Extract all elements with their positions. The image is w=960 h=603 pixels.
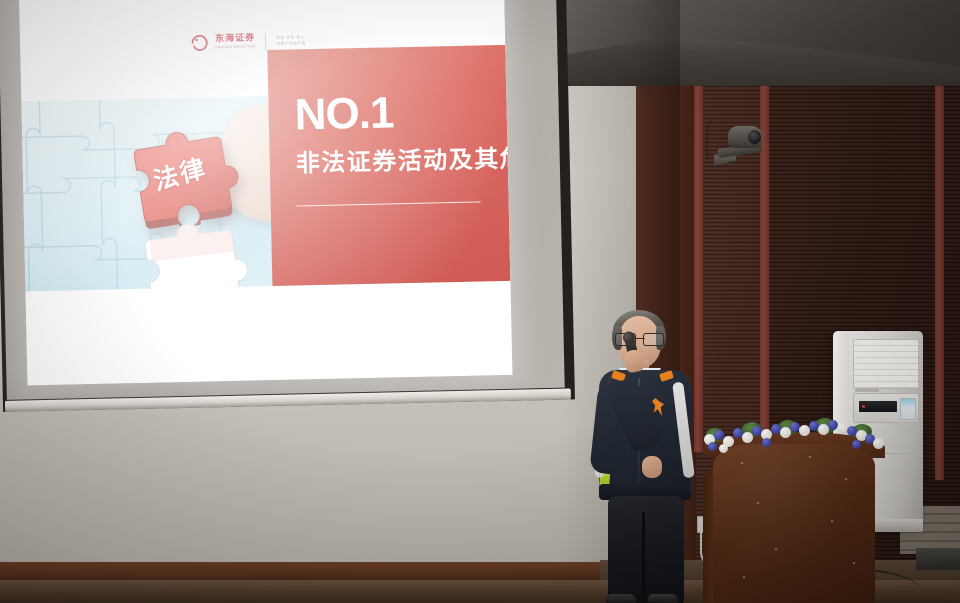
slide-number: NO.1 [294,91,394,137]
lectern-front-panel [713,444,875,603]
projected-image: 东海证券 DONGHAI SECURITIES 专业 专注 专心 为客户创造价值 [19,0,512,385]
shoe [606,594,636,603]
puzzle-slot [137,209,265,292]
wall-trim-strip [935,40,944,480]
flower-arrangement [702,416,886,452]
slide-title-panel: NO.1 非法证券活动及其危害 [267,45,510,286]
bird-logo-icon [190,33,209,52]
photo-scene: 东海证券 DONGHAI SECURITIES 专业 专注 专心 为客户创造价值 [0,0,960,603]
ac-energy-label [900,398,916,420]
ac-air-grille [853,339,919,389]
ac-brand-label [855,389,879,392]
presenter [586,306,704,603]
camera-body [728,126,762,148]
logo-tagline-line2: 为客户创造价值 [276,40,305,47]
shoe [648,594,678,603]
lectern [703,418,885,603]
trouser-seam [642,512,645,602]
logo-divider [265,33,266,50]
camera-lens-icon [748,130,761,144]
title-underline [297,201,481,206]
security-camera-icon [714,126,770,170]
trousers [608,496,684,603]
wall-trim-strip [760,28,769,448]
hand-fist [642,456,662,478]
logo-company-name-cn: 东海证券 [215,34,255,44]
projection-screen: 东海证券 DONGHAI SECURITIES 专业 专注 专心 为客户创造价值 [0,0,575,412]
logo-company-name-en: DONGHAI SECURITIES [215,45,255,50]
slide-heading: 非法证券活动及其危害 [296,146,513,178]
glasses-lens [643,333,664,346]
ac-power-led-icon [862,405,865,408]
presentation-slide: 东海证券 DONGHAI SECURITIES 专业 专注 专心 为客户创造价值 [19,0,512,385]
floor-equipment [916,548,960,570]
